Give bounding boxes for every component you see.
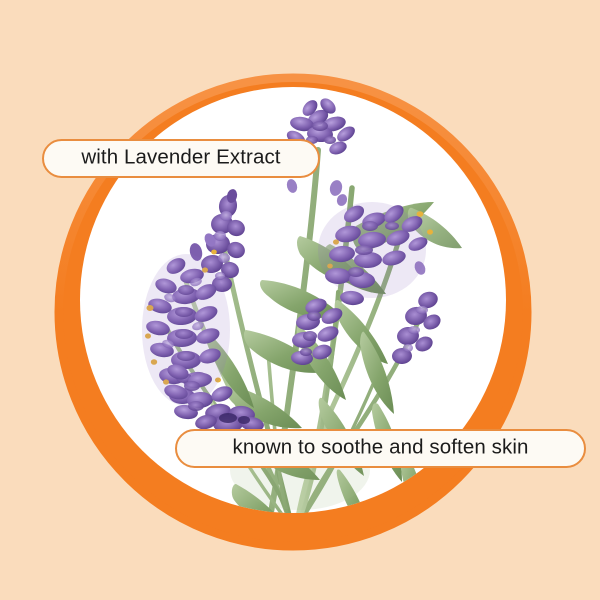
badge-with-lavender-extract: with Lavender Extract [42,139,320,178]
lavender-illustration [0,0,600,600]
badge-soothe-soften-skin: known to soothe and soften skin [175,429,586,468]
poster-canvas: with Lavender Extract known to soothe an… [0,0,600,600]
badge-top-label: with Lavender Extract [81,148,280,169]
badge-bottom-label: known to soothe and soften skin [233,438,529,459]
